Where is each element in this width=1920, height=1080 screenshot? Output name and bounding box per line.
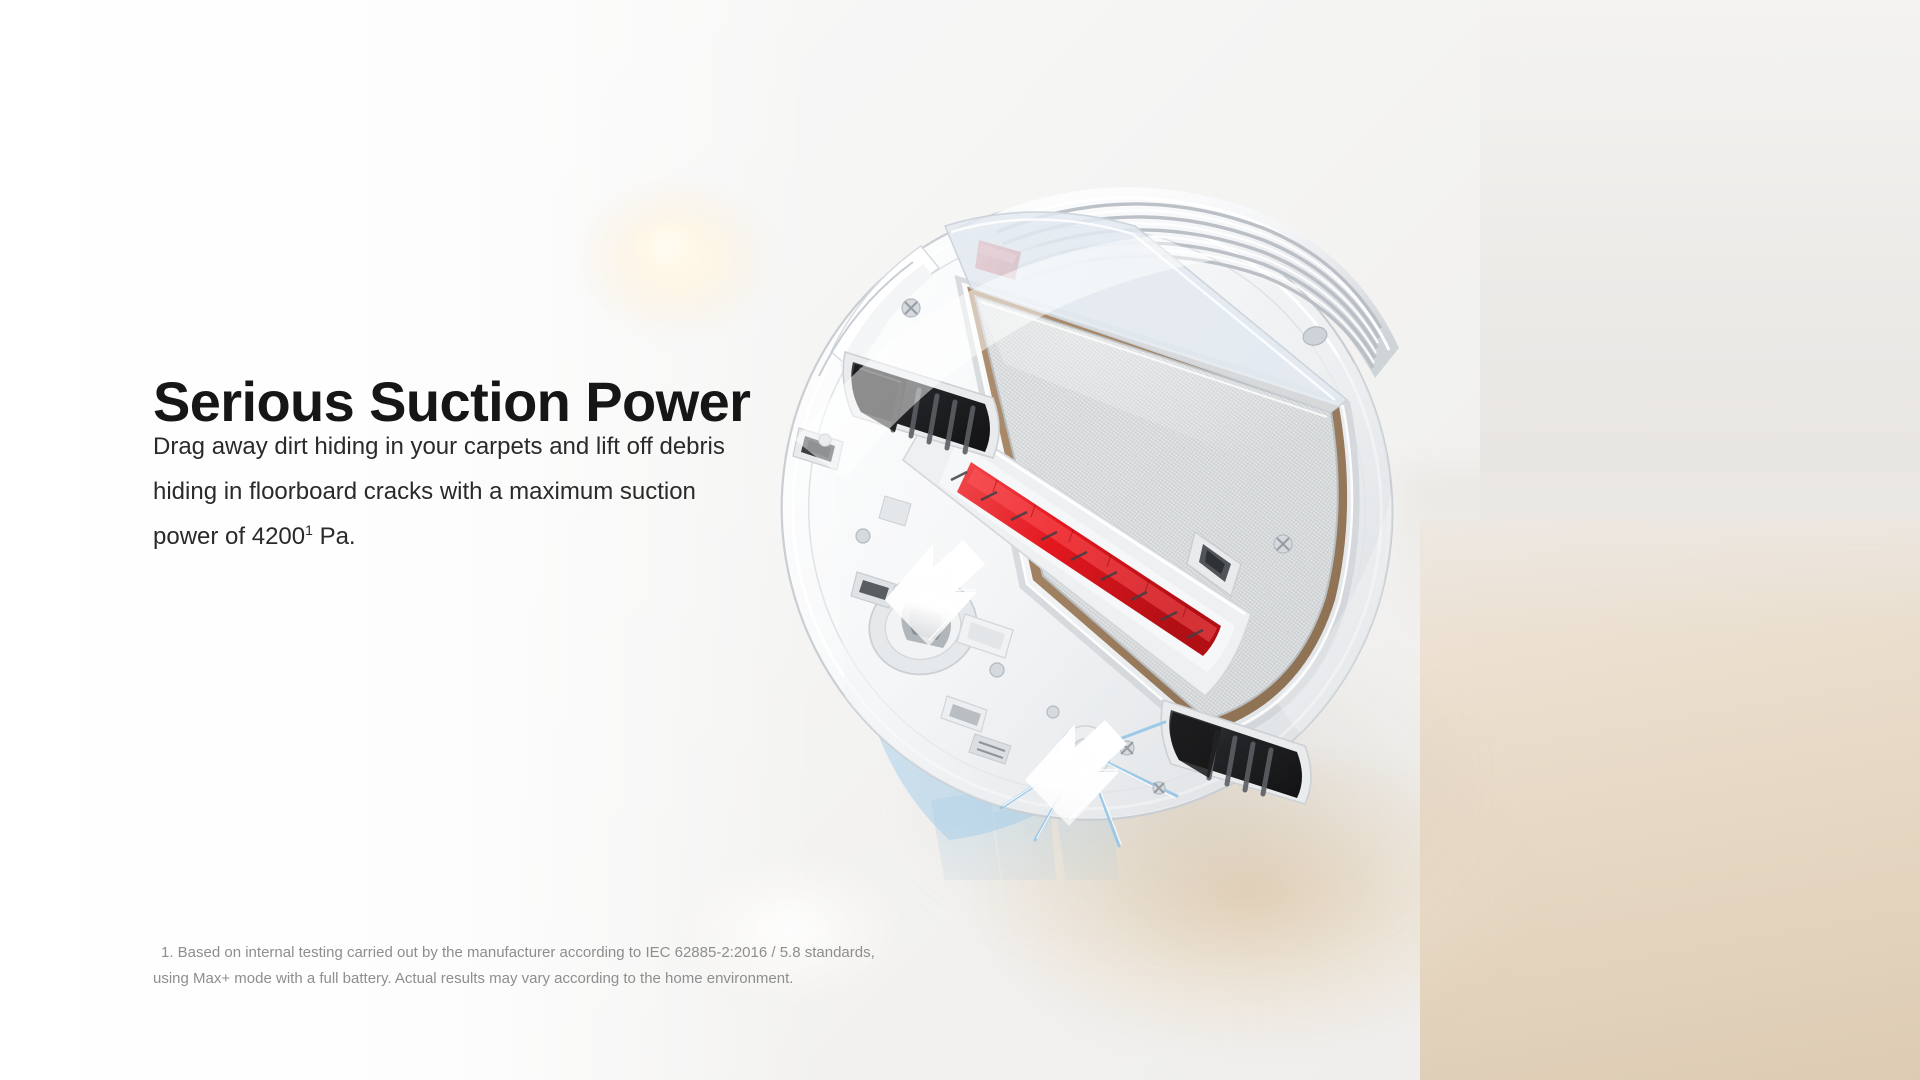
- footnote-line-2: using Max+ mode with a full battery. Act…: [153, 966, 1013, 992]
- ceiling-light-core-icon: [636, 222, 698, 270]
- product-feature-banner: Serious Suction Power Drag away dirt hid…: [0, 0, 1920, 1080]
- suction-unit: Pa.: [313, 523, 356, 550]
- robot-vacuum-svg: [735, 140, 1455, 880]
- body-line-1: Drag away dirt hiding in your carpets an…: [153, 424, 753, 469]
- footnote-marker: 1: [305, 522, 313, 538]
- suction-value: power of 4200: [153, 523, 305, 550]
- body-copy: Drag away dirt hiding in your carpets an…: [153, 424, 753, 559]
- body-line-2: hiding in floorboard cracks with a maxim…: [153, 469, 753, 514]
- footnote: 1. Based on internal testing carried out…: [153, 940, 1013, 992]
- footnote-line-1: 1. Based on internal testing carried out…: [153, 940, 1013, 966]
- robot-vacuum-image: [735, 140, 1455, 880]
- body-line-3: power of 42001 Pa.: [153, 514, 753, 559]
- background-floor-blend: [1400, 470, 1920, 630]
